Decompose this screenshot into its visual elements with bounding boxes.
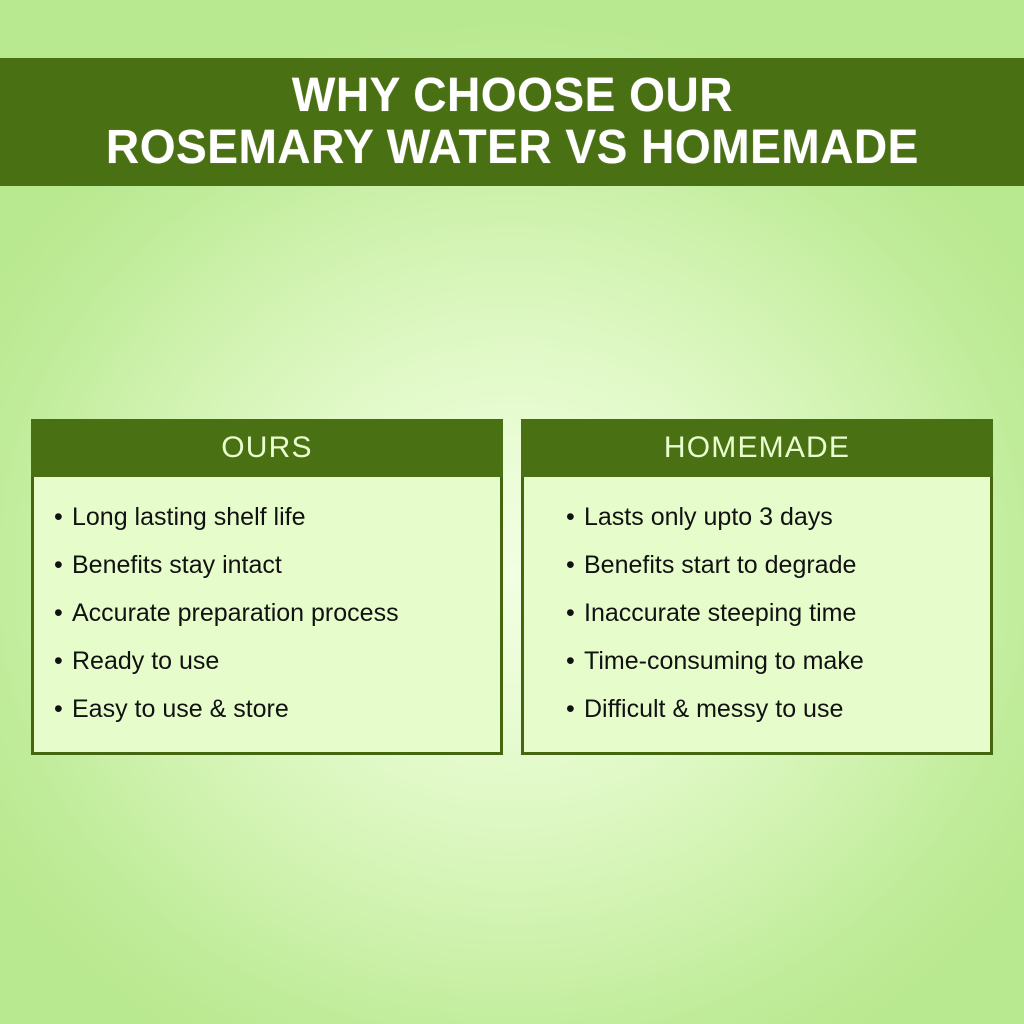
bullet-dot-icon: • xyxy=(54,685,72,733)
drawback-list-homemade: • Lasts only upto 3 days • Benefits star… xyxy=(566,493,990,733)
title-banner: WHY CHOOSE OUR ROSEMARY WATER VS HOMEMAD… xyxy=(0,58,1024,186)
list-item: • Easy to use & store xyxy=(54,685,500,733)
list-item: • Benefits start to degrade xyxy=(566,541,990,589)
list-item-label: Accurate preparation process xyxy=(72,589,399,637)
list-item-label: Lasts only upto 3 days xyxy=(584,493,833,541)
list-item: • Inaccurate steeping time xyxy=(566,589,990,637)
list-item: • Lasts only upto 3 days xyxy=(566,493,990,541)
list-item: • Long lasting shelf life xyxy=(54,493,500,541)
list-item-label: Inaccurate steeping time xyxy=(584,589,856,637)
page-title: WHY CHOOSE OUR ROSEMARY WATER VS HOMEMAD… xyxy=(106,70,919,174)
bullet-dot-icon: • xyxy=(54,493,72,541)
bullet-dot-icon: • xyxy=(566,637,584,685)
card-header-homemade: HOMEMADE xyxy=(521,419,993,477)
list-item-label: Benefits stay intact xyxy=(72,541,282,589)
list-item-label: Difficult & messy to use xyxy=(584,685,843,733)
comparison-card-homemade: HOMEMADE • Lasts only upto 3 days • Bene… xyxy=(521,419,993,755)
comparison-infographic: WHY CHOOSE OUR ROSEMARY WATER VS HOMEMAD… xyxy=(0,0,1024,1024)
list-item: • Accurate preparation process xyxy=(54,589,500,637)
list-item-label: Time-consuming to make xyxy=(584,637,864,685)
bullet-dot-icon: • xyxy=(566,541,584,589)
benefit-list-ours: • Long lasting shelf life • Benefits sta… xyxy=(54,493,500,733)
list-item: • Time-consuming to make xyxy=(566,637,990,685)
bullet-dot-icon: • xyxy=(54,637,72,685)
list-item: • Benefits stay intact xyxy=(54,541,500,589)
bullet-dot-icon: • xyxy=(566,589,584,637)
bullet-dot-icon: • xyxy=(54,541,72,589)
card-body-ours: • Long lasting shelf life • Benefits sta… xyxy=(31,477,503,755)
card-header-label-ours: OURS xyxy=(221,431,312,465)
list-item-label: Ready to use xyxy=(72,637,219,685)
bullet-dot-icon: • xyxy=(566,685,584,733)
list-item: • Ready to use xyxy=(54,637,500,685)
list-item-label: Long lasting shelf life xyxy=(72,493,305,541)
card-header-ours: OURS xyxy=(31,419,503,477)
card-body-homemade: • Lasts only upto 3 days • Benefits star… xyxy=(521,477,993,755)
card-header-label-homemade: HOMEMADE xyxy=(664,431,850,465)
list-item: • Difficult & messy to use xyxy=(566,685,990,733)
list-item-label: Easy to use & store xyxy=(72,685,289,733)
bullet-dot-icon: • xyxy=(54,589,72,637)
list-item-label: Benefits start to degrade xyxy=(584,541,856,589)
comparison-card-ours: OURS • Long lasting shelf life • Benefit… xyxy=(31,419,503,755)
bullet-dot-icon: • xyxy=(566,493,584,541)
